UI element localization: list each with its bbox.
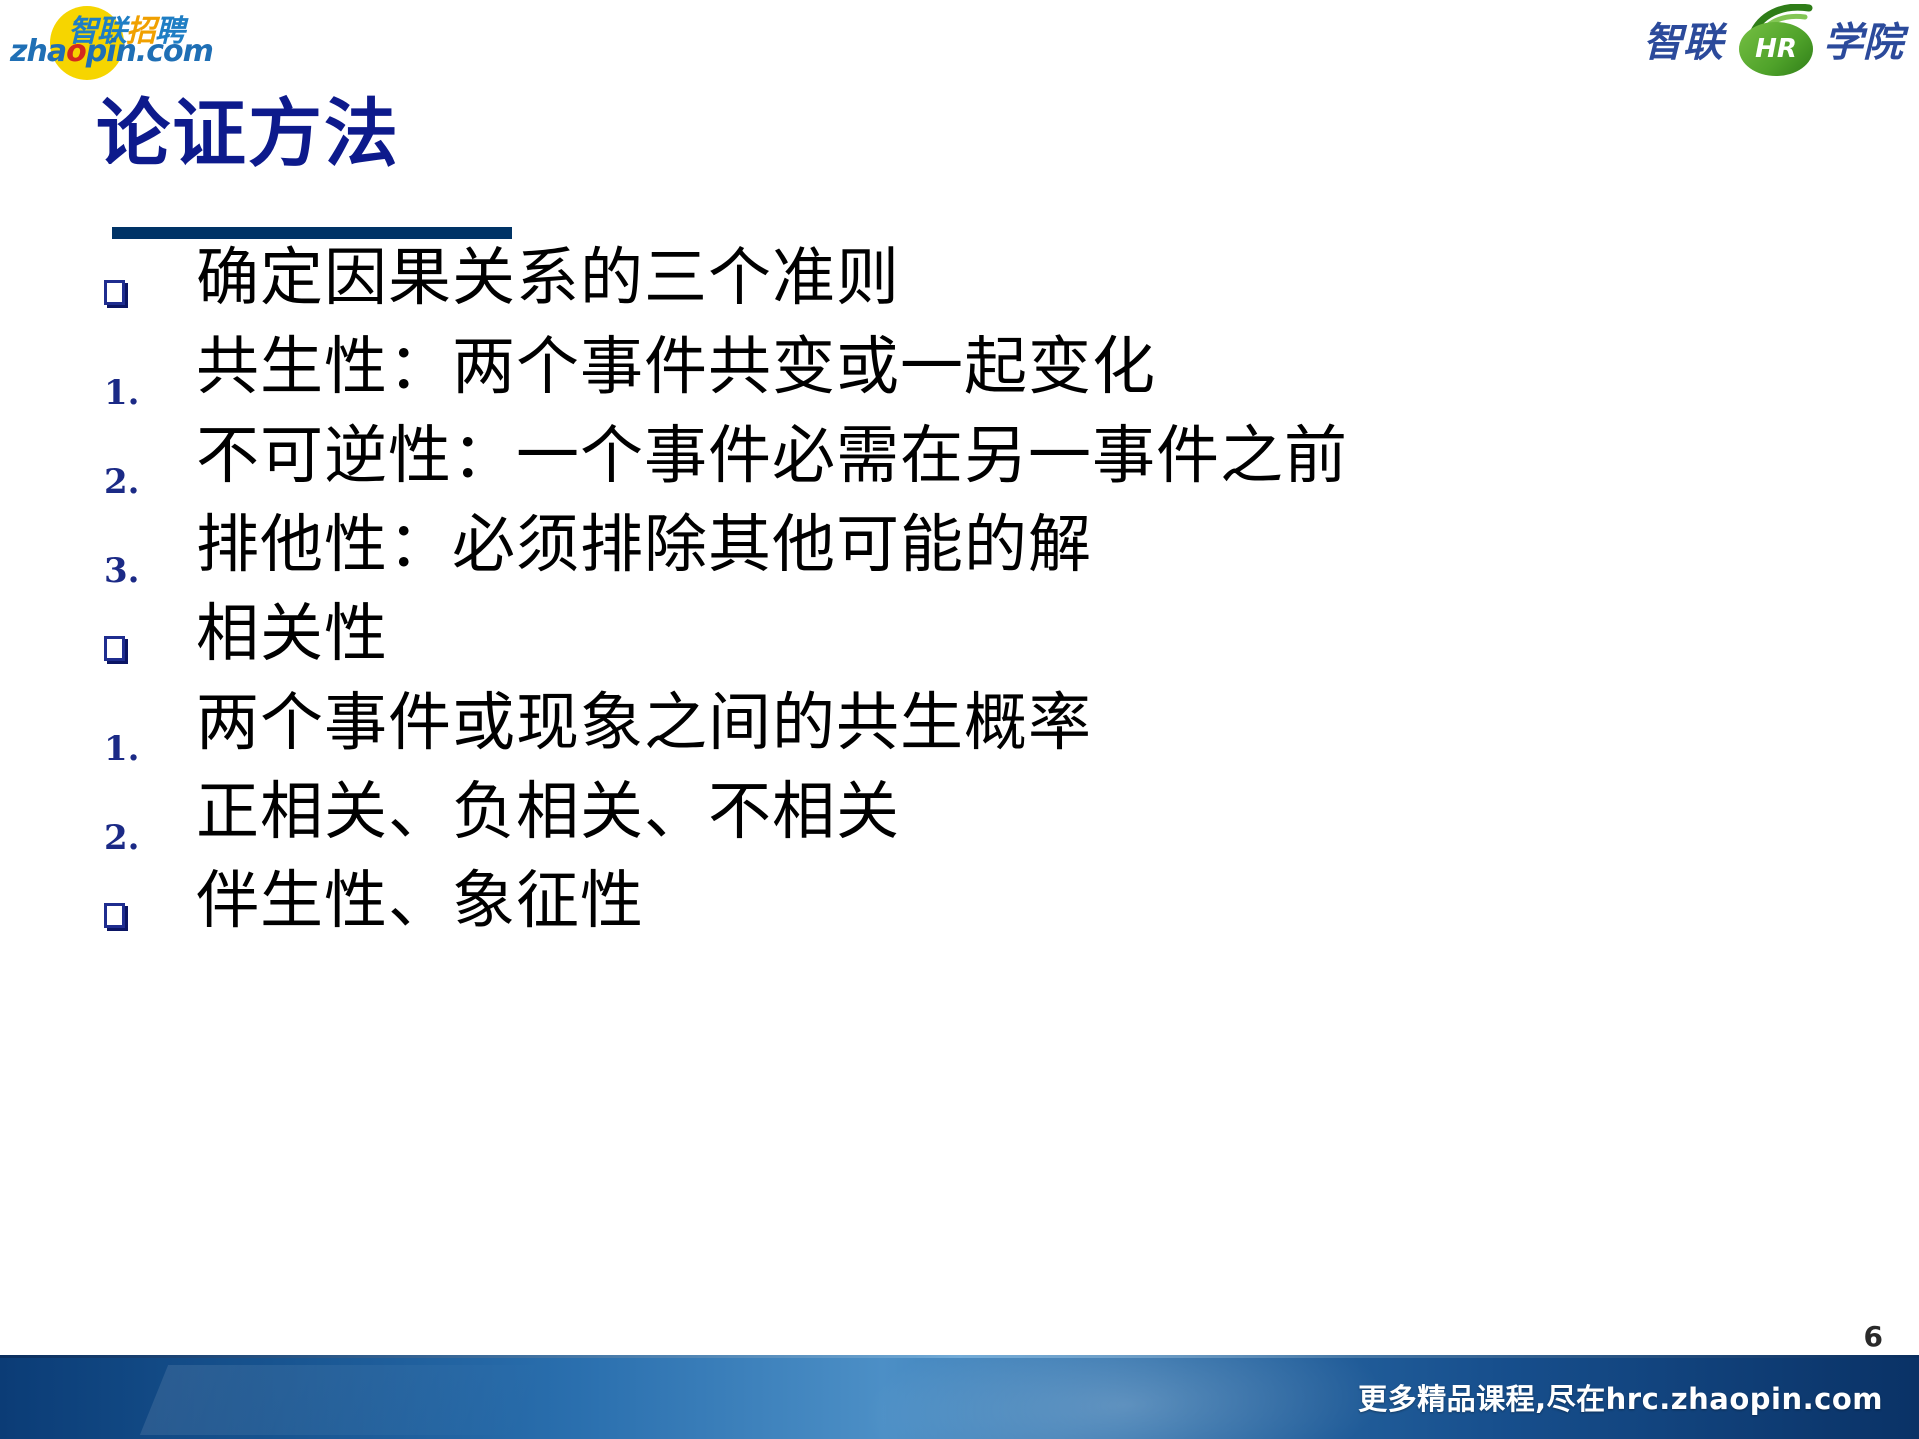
- list-item: 3. 排他性：必须排除其他可能的解: [96, 513, 1856, 602]
- list-item: 伴生性、象征性: [96, 869, 1856, 958]
- bullet-number-marker: 2.: [96, 446, 196, 486]
- title-underline-rule: [112, 227, 512, 239]
- list-item: 相关性: [96, 602, 1856, 691]
- hollow-square-icon: [104, 280, 125, 305]
- zhaopin-logo-en-text: zhaopin.com: [10, 34, 213, 69]
- bullet-square-marker: [96, 630, 196, 655]
- footer-highlight-decoration: [834, 1355, 1412, 1439]
- list-item-label: 共生性：两个事件共变或一起变化: [196, 335, 1156, 398]
- hr-badge-label: HR: [1739, 22, 1813, 76]
- bullet-number-marker: 1.: [96, 713, 196, 753]
- hollow-square-icon: [104, 903, 125, 928]
- footer-highlight-decoration-2: [139, 1365, 547, 1435]
- list-item-number: 1.: [104, 373, 140, 413]
- list-item: 2. 正相关、负相关、不相关: [96, 780, 1856, 869]
- list-item: 确定因果关系的三个准则: [96, 246, 1856, 335]
- bullet-number-marker: 1.: [96, 357, 196, 397]
- hr-logo-prefix-text: 智联: [1643, 23, 1723, 63]
- slide-canvas: 智联招聘 zhaopin.com 智联 HR 学院 论证方法 确定因果关系的三个…: [0, 0, 1919, 1439]
- bullet-number-marker: 2.: [96, 802, 196, 842]
- list-item-label: 正相关、负相关、不相关: [196, 780, 900, 843]
- list-item-number: 2.: [104, 462, 140, 502]
- list-item-label: 确定因果关系的三个准则: [196, 246, 900, 309]
- list-item-number: 1.: [104, 729, 140, 769]
- list-item-label: 不可逆性：一个事件必需在另一事件之前: [196, 424, 1348, 487]
- bullet-square-marker: [96, 897, 196, 922]
- page-number: 6: [1864, 1320, 1883, 1353]
- hr-logo-suffix-text: 学院: [1823, 23, 1903, 63]
- footer-banner: 更多精品课程,尽在hrc.zhaopin.com: [0, 1355, 1919, 1439]
- hollow-square-icon: [104, 636, 125, 661]
- list-item-label: 两个事件或现象之间的共生概率: [196, 691, 1092, 754]
- zhaopin-logo-en-post: pin.com: [86, 34, 213, 69]
- list-item-label: 相关性: [196, 602, 388, 665]
- footer-promo-text: 更多精品课程,尽在hrc.zhaopin.com: [1358, 1376, 1883, 1418]
- bullet-square-marker: [96, 274, 196, 299]
- list-item: 1. 两个事件或现象之间的共生概率: [96, 691, 1856, 780]
- zhilian-hr-academy-logo: 智联 HR 学院: [1643, 8, 1903, 78]
- list-item-label: 排他性：必须排除其他可能的解: [196, 513, 1092, 576]
- bullet-number-marker: 3.: [96, 535, 196, 575]
- zhaopin-logo: 智联招聘 zhaopin.com: [8, 4, 258, 82]
- list-item-number: 3.: [104, 551, 140, 591]
- list-item-label: 伴生性、象征性: [196, 869, 644, 932]
- slide-bullet-list: 确定因果关系的三个准则 1. 共生性：两个事件共变或一起变化 2. 不可逆性：一…: [96, 246, 1856, 958]
- hr-badge: HR: [1729, 8, 1817, 78]
- zhaopin-logo-en-pre: zha: [10, 34, 66, 69]
- page-title: 论证方法: [96, 96, 400, 174]
- list-item: 1. 共生性：两个事件共变或一起变化: [96, 335, 1856, 424]
- zhaopin-logo-red-o: o: [66, 34, 86, 69]
- list-item: 2. 不可逆性：一个事件必需在另一事件之前: [96, 424, 1856, 513]
- list-item-number: 2.: [104, 818, 140, 858]
